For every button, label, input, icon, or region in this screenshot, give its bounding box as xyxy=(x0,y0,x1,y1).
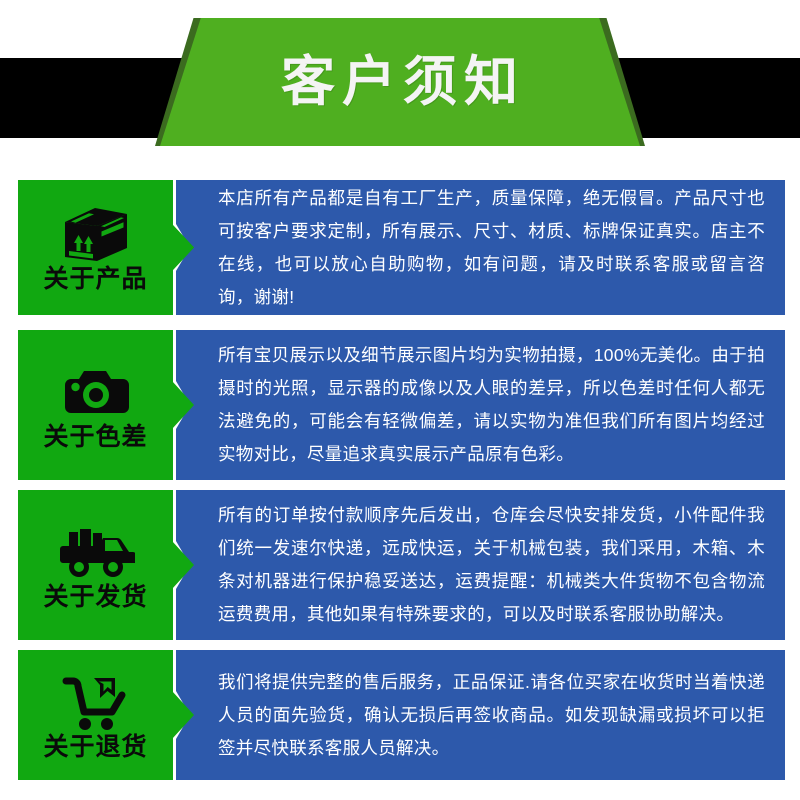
page-root: 客户须知 本店所有产品都是自有工厂生产，质量保障，绝无假冒。产品尺寸也可按客户要… xyxy=(0,0,800,800)
page-title: 客户须知 xyxy=(275,55,525,109)
arrow-pointer-icon xyxy=(172,490,194,640)
delivery-truck-icon xyxy=(57,521,135,583)
section-icon-panel[interactable]: 关于产品 xyxy=(18,180,173,315)
camera-icon xyxy=(57,361,135,423)
section-row-shipping: 所有的订单按付款顺序先后发出，仓库会尽快安排发货，小件配件我们统一发速尔快递，远… xyxy=(0,490,800,640)
banner: 客户须知 xyxy=(0,0,800,160)
section-body-text: 所有的订单按付款顺序先后发出，仓库会尽快安排发货，小件配件我们统一发速尔快递，远… xyxy=(176,499,785,631)
section-body-text: 我们将提供完整的售后服务，正品保证.请各位买家在收货时当着快递人员的面先验货，确… xyxy=(176,666,785,765)
section-body-text: 所有宝贝展示以及细节展示图片均为实物拍摄，100%无美化。由于拍摄时的光照，显示… xyxy=(176,339,785,471)
arrow-pointer-icon xyxy=(172,180,194,315)
arrow-pointer-icon xyxy=(172,330,194,480)
section-text-panel: 本店所有产品都是自有工厂生产，质量保障，绝无假冒。产品尺寸也可按客户要求定制，所… xyxy=(176,180,785,315)
section-text-panel: 所有宝贝展示以及细节展示图片均为实物拍摄，100%无美化。由于拍摄时的光照，显示… xyxy=(176,330,785,480)
section-icon-label: 关于退货 xyxy=(43,735,147,760)
section-icon-panel[interactable]: 关于发货 xyxy=(18,490,173,640)
arrow-pointer-icon xyxy=(172,650,194,780)
section-icon-label: 关于色差 xyxy=(43,425,147,450)
section-body-text: 本店所有产品都是自有工厂生产，质量保障，绝无假冒。产品尺寸也可按客户要求定制，所… xyxy=(176,182,785,314)
section-row-return: 我们将提供完整的售后服务，正品保证.请各位买家在收货时当着快递人员的面先验货，确… xyxy=(0,650,800,780)
section-row-product: 本店所有产品都是自有工厂生产，质量保障，绝无假冒。产品尺寸也可按客户要求定制，所… xyxy=(0,180,800,315)
section-icon-panel[interactable]: 关于退货 xyxy=(18,650,173,780)
section-text-panel: 所有的订单按付款顺序先后发出，仓库会尽快安排发货，小件配件我们统一发速尔快递，远… xyxy=(176,490,785,640)
section-icon-label: 关于发货 xyxy=(43,585,147,610)
section-icon-label: 关于产品 xyxy=(43,267,147,292)
return-cart-icon xyxy=(57,671,135,733)
section-text-panel: 我们将提供完整的售后服务，正品保证.请各位买家在收货时当着快递人员的面先验货，确… xyxy=(176,650,785,780)
section-row-color: 所有宝贝展示以及细节展示图片均为实物拍摄，100%无美化。由于拍摄时的光照，显示… xyxy=(0,330,800,480)
section-icon-panel[interactable]: 关于色差 xyxy=(18,330,173,480)
ribbon-banner: 客户须知 xyxy=(160,18,640,146)
package-box-icon xyxy=(57,203,135,265)
